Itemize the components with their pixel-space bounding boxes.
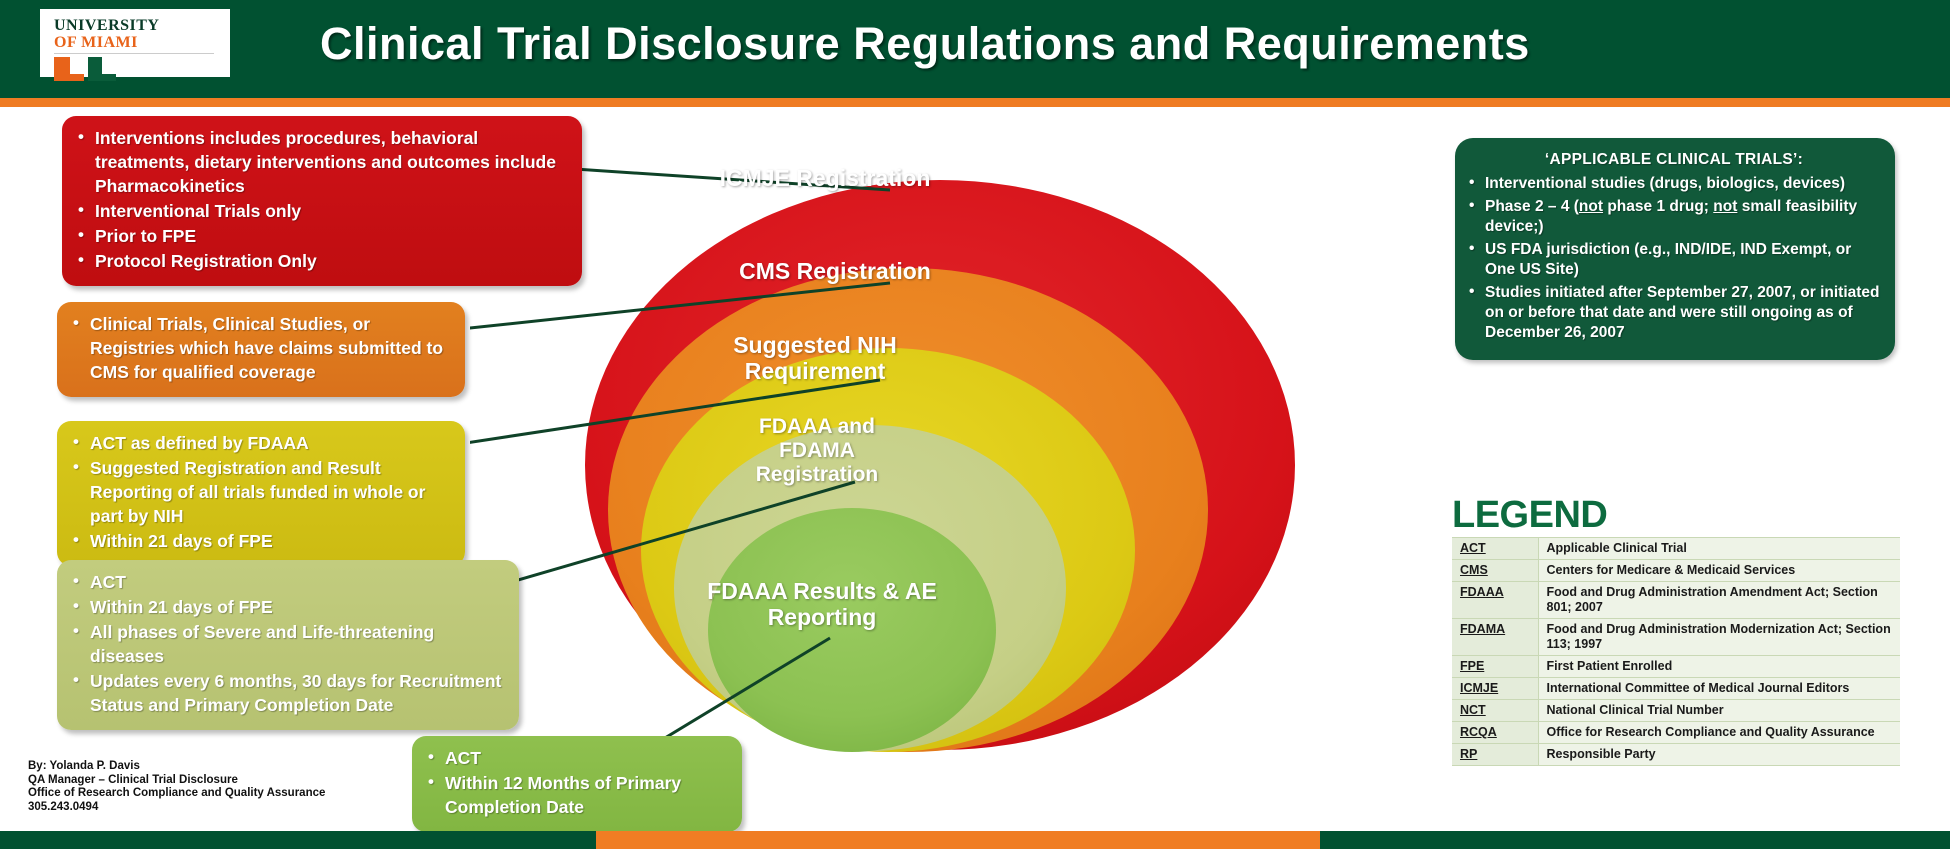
table-row: FDAMA Food and Drug Administration Moder… xyxy=(1452,619,1900,656)
ring-label-fdaaa-fdama: FDAAA and FDAMA Registration xyxy=(722,415,912,487)
callout-item: Within 21 days of FPE xyxy=(73,595,505,619)
callout-item: Updates every 6 months, 30 days for Recr… xyxy=(73,669,505,717)
legend-definition: Centers for Medicare & Medicaid Services xyxy=(1538,560,1900,582)
act-item-text: Phase 2 – 4 ( xyxy=(1485,198,1579,215)
legend: LEGEND ACT Applicable Clinical Trial CMS… xyxy=(1452,495,1900,766)
logo-divider xyxy=(54,53,214,54)
callout-fdaaa-results: ACT Within 12 Months of Primary Completi… xyxy=(412,736,742,832)
table-row: ICMJE International Committee of Medical… xyxy=(1452,678,1900,700)
legend-definition: International Committee of Medical Journ… xyxy=(1538,678,1900,700)
legend-term: ICMJE xyxy=(1452,678,1538,700)
callout-item: Clinical Trials, Clinical Studies, or Re… xyxy=(73,312,451,384)
table-row: FPE First Patient Enrolled xyxy=(1452,656,1900,678)
ring-label-nih: Suggested NIH Requirement xyxy=(685,332,945,385)
applicable-clinical-trials-box: ‘APPLICABLE CLINICAL TRIALS’: Interventi… xyxy=(1455,138,1895,360)
callout-item: ACT as defined by FDAAA xyxy=(73,431,451,455)
act-item-underline-not: not xyxy=(1579,198,1603,215)
legend-definition: National Clinical Trial Number xyxy=(1538,700,1900,722)
author-name: By: Yolanda P. Davis xyxy=(28,760,428,774)
callout-item: Interventions includes procedures, behav… xyxy=(78,126,568,198)
ring-label-icmje: ICMJE Registration xyxy=(660,165,990,191)
author-credit: By: Yolanda P. Davis QA Manager – Clinic… xyxy=(28,760,428,814)
legend-table: ACT Applicable Clinical Trial CMS Center… xyxy=(1452,537,1900,766)
author-office: Office of Research Compliance and Qualit… xyxy=(28,787,428,801)
callout-item: All phases of Severe and Life-threatenin… xyxy=(73,620,505,668)
legend-definition: Responsible Party xyxy=(1538,744,1900,766)
legend-term: RCQA xyxy=(1452,722,1538,744)
logo-line-university: UNIVERSITY xyxy=(54,17,220,34)
callout-fdaaa-registration: ACT Within 21 days of FPE All phases of … xyxy=(57,560,519,730)
callout-item: ACT xyxy=(73,570,505,594)
page-title: Clinical Trial Disclosure Regulations an… xyxy=(320,18,1920,70)
legend-term: FPE xyxy=(1452,656,1538,678)
legend-term: NCT xyxy=(1452,700,1538,722)
legend-title: LEGEND xyxy=(1452,495,1900,535)
callout-icmje: Interventions includes procedures, behav… xyxy=(62,116,582,286)
act-box-title: ‘APPLICABLE CLINICAL TRIALS’: xyxy=(1467,150,1881,170)
callout-nih: ACT as defined by FDAAA Suggested Regist… xyxy=(57,421,465,566)
legend-definition: Office for Research Compliance and Quali… xyxy=(1538,722,1900,744)
callout-cms: Clinical Trials, Clinical Studies, or Re… xyxy=(57,302,465,397)
university-of-miami-logo: UNIVERSITY OF MIAMI xyxy=(40,9,230,77)
logo-line-miami: OF MIAMI xyxy=(54,34,220,51)
author-phone: 305.243.0494 xyxy=(28,801,428,815)
callout-item: Within 12 Months of Primary Completion D… xyxy=(428,771,728,819)
table-row: ACT Applicable Clinical Trial xyxy=(1452,538,1900,560)
ring-label-cms: CMS Registration xyxy=(675,258,995,284)
act-box-item: Studies initiated after September 27, 20… xyxy=(1467,283,1881,343)
callout-item: Interventional Trials only xyxy=(78,199,568,223)
act-item-text: phase 1 drug; xyxy=(1603,198,1713,215)
act-box-item: US FDA jurisdiction (e.g., IND/IDE, IND … xyxy=(1467,240,1881,280)
legend-term: FDAAA xyxy=(1452,582,1538,619)
ring-label-fdaaa-results: FDAAA Results & AE Reporting xyxy=(692,578,952,631)
legend-definition: First Patient Enrolled xyxy=(1538,656,1900,678)
act-box-item: Interventional studies (drugs, biologics… xyxy=(1467,174,1881,194)
legend-definition: Food and Drug Administration Amendment A… xyxy=(1538,582,1900,619)
legend-term: RP xyxy=(1452,744,1538,766)
legend-definition: Applicable Clinical Trial xyxy=(1538,538,1900,560)
table-row: FDAAA Food and Drug Administration Amend… xyxy=(1452,582,1900,619)
miami-u-icon xyxy=(54,57,124,81)
legend-term: CMS xyxy=(1452,560,1538,582)
nested-ellipse-diagram: ICMJE Registration CMS Registration Sugg… xyxy=(470,110,1410,810)
callout-item: Suggested Registration and Result Report… xyxy=(73,456,451,528)
legend-definition: Food and Drug Administration Modernizati… xyxy=(1538,619,1900,656)
table-row: RCQA Office for Research Compliance and … xyxy=(1452,722,1900,744)
act-item-underline-not: not xyxy=(1713,198,1737,215)
table-row: NCT National Clinical Trial Number xyxy=(1452,700,1900,722)
callout-item: Prior to FPE xyxy=(78,224,568,248)
table-row: CMS Centers for Medicare & Medicaid Serv… xyxy=(1452,560,1900,582)
footer-accent-segment xyxy=(596,831,1320,849)
callout-item: Within 21 days of FPE xyxy=(73,529,451,553)
callout-item: ACT xyxy=(428,746,728,770)
callout-item: Protocol Registration Only xyxy=(78,249,568,273)
table-row: RP Responsible Party xyxy=(1452,744,1900,766)
author-role: QA Manager – Clinical Trial Disclosure xyxy=(28,774,428,788)
legend-term: ACT xyxy=(1452,538,1538,560)
legend-term: FDAMA xyxy=(1452,619,1538,656)
act-box-item: Phase 2 – 4 (not phase 1 drug; not small… xyxy=(1467,197,1881,237)
header-accent-stripe xyxy=(0,98,1950,107)
